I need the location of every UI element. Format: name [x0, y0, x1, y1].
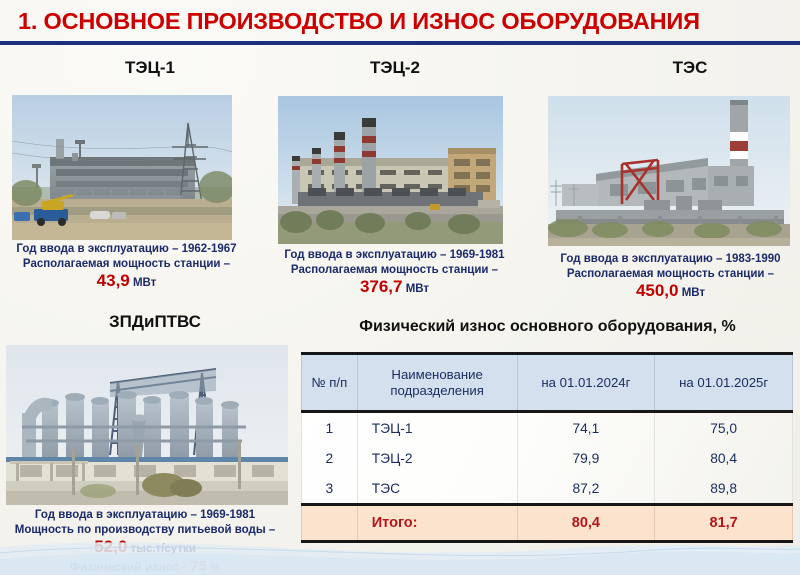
row-value-2025: 75,0	[655, 412, 793, 444]
row-num: 2	[302, 443, 358, 473]
title-divider	[0, 41, 800, 45]
wear-unit: %	[210, 562, 220, 574]
row-value-2024: 79,9	[517, 443, 655, 473]
caption-zpdiptvs-unit: тыс.т/сутки	[131, 543, 196, 555]
caption-tec1-unit: МВт	[133, 277, 156, 289]
row-value-2024: 74,1	[517, 412, 655, 444]
section-label-tes: ТЭС	[600, 58, 780, 78]
photo-tec1	[12, 95, 232, 240]
photo-zpdiptvs	[6, 345, 288, 505]
slide-canvas: 1. ОСНОВНОЕ ПРОИЗВОДСТВО И ИЗНОС ОБОРУДО…	[0, 0, 800, 575]
total-num	[302, 505, 358, 542]
caption-zpdiptvs-value: 52,0	[94, 537, 127, 556]
page-title: 1. ОСНОВНОЕ ПРОИЗВОДСТВО И ИЗНОС ОБОРУДО…	[18, 8, 788, 35]
table-header-2025: на 01.01.2025г	[655, 354, 793, 412]
caption-zpdiptvs-line2: Мощность по производству питьевой воды –	[0, 523, 290, 538]
caption-tes-unit: МВт	[682, 287, 705, 299]
table-header: № п/п Наименование подразделения на 01.0…	[302, 354, 793, 412]
caption-tec1-line1: Год ввода в эксплуатацию – 1962-1967	[4, 242, 249, 257]
caption-tec2-line1: Год ввода в эксплуатацию – 1969-1981	[272, 248, 517, 263]
caption-tec2-unit: МВт	[406, 283, 429, 295]
table-header-2024: на 01.01.2024г	[517, 354, 655, 412]
table-title: Физический износ основного оборудования,…	[300, 318, 795, 336]
total-label: Итого:	[357, 505, 517, 542]
caption-tes-line1: Год ввода в эксплуатацию – 1983-1990	[548, 252, 793, 267]
caption-tec2-value: 376,7	[360, 277, 403, 296]
total-value-2024: 80,4	[517, 505, 655, 542]
section-label-tec2: ТЭЦ-2	[300, 58, 490, 78]
row-value-2025: 80,4	[655, 443, 793, 473]
table-row: 1 ТЭЦ-1 74,1 75,0	[302, 412, 793, 444]
caption-tec1-line2: Располагаемая мощность станции –	[4, 257, 249, 272]
table-row: 2 ТЭЦ-2 79,9 80,4	[302, 443, 793, 473]
caption-tes-line2: Располагаемая мощность станции –	[548, 267, 793, 282]
row-name: ТЭЦ-2	[357, 443, 517, 473]
table-total-row: Итого: 80,4 81,7	[302, 505, 793, 542]
wear-value: 75	[190, 558, 207, 575]
row-name: ТЭС	[357, 473, 517, 505]
caption-tes: Год ввода в эксплуатацию – 1983-1990 Рас…	[548, 252, 793, 301]
row-num: 3	[302, 473, 358, 505]
caption-tes-value: 450,0	[636, 281, 679, 300]
photo-tec2	[278, 96, 503, 244]
caption-tec2-line2: Располагаемая мощность станции –	[272, 263, 517, 278]
row-num: 1	[302, 412, 358, 444]
section-label-zpdiptvs: ЗПДиПТВС	[45, 312, 265, 332]
table-header-row: № п/п Наименование подразделения на 01.0…	[302, 354, 793, 412]
row-value-2024: 87,2	[517, 473, 655, 505]
caption-zpdiptvs-line1: Год ввода в эксплуатацию – 1969-1981	[0, 508, 290, 523]
table-header-num: № п/п	[302, 354, 358, 412]
row-value-2025: 89,8	[655, 473, 793, 505]
photo-tes	[548, 96, 790, 246]
total-value-2025: 81,7	[655, 505, 793, 542]
table-row: 3 ТЭС 87,2 89,8	[302, 473, 793, 505]
table-header-name-line1: Наименование	[391, 367, 482, 382]
wear-table: № п/п Наименование подразделения на 01.0…	[301, 352, 793, 543]
table-header-name: Наименование подразделения	[357, 354, 517, 412]
table-body: 1 ТЭЦ-1 74,1 75,0 2 ТЭЦ-2 79,9 80,4 3 ТЭ…	[302, 412, 793, 542]
section-label-tec1: ТЭЦ-1	[55, 58, 245, 78]
row-name: ТЭЦ-1	[357, 412, 517, 444]
caption-tec1: Год ввода в эксплуатацию – 1962-1967 Рас…	[4, 242, 249, 291]
caption-tec1-value: 43,9	[97, 271, 130, 290]
caption-zpdiptvs: Год ввода в эксплуатацию – 1969-1981 Мощ…	[0, 508, 290, 575]
wear-label: Физический износ -	[70, 560, 187, 574]
caption-tec2: Год ввода в эксплуатацию – 1969-1981 Рас…	[272, 248, 517, 297]
table-header-name-line2: подразделения	[390, 383, 484, 398]
